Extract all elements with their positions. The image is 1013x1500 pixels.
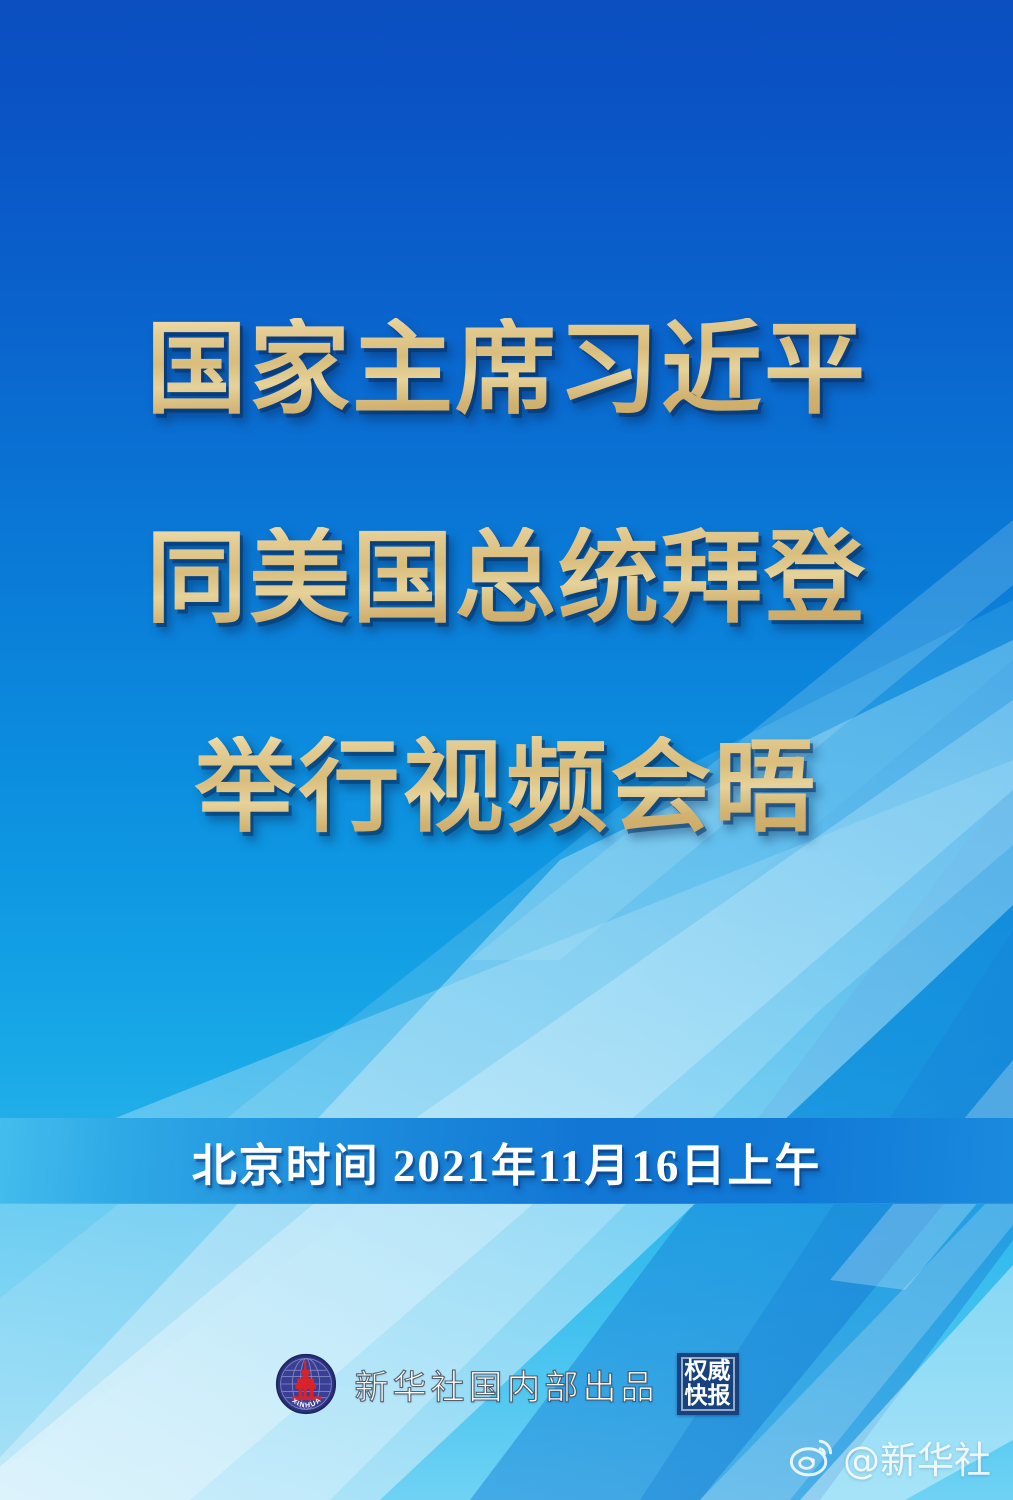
date-band: 北京时间 2021年11月16日上午: [0, 1118, 1013, 1204]
headline-block: 国家主席习近平 同美国总统拜登 举行视频会晤: [0, 318, 1013, 839]
seal-line-1: 权威: [685, 1359, 731, 1384]
seal-line-2: 快报: [685, 1384, 731, 1409]
authority-seal: 权威 快报: [677, 1353, 739, 1415]
headline-line-1: 国家主席习近平: [0, 318, 1013, 421]
weibo-handle: @新华社: [843, 1430, 991, 1484]
xinhua-logo-icon: XINHUA: [275, 1353, 337, 1415]
produced-by-label: 新华社国内部出品: [355, 1360, 659, 1409]
weibo-icon: [790, 1437, 834, 1477]
date-text: 北京时间 2021年11月16日上午: [192, 1129, 822, 1194]
headline-line-2: 同美国总统拜登: [0, 527, 1013, 630]
headline-line-3: 举行视频会晤: [0, 736, 1013, 839]
news-poster: 国家主席习近平 同美国总统拜登 举行视频会晤 北京时间 2021年11月16日上…: [0, 0, 1013, 1500]
weibo-watermark: @新华社: [790, 1430, 991, 1484]
credit-row: XINHUA 新华社国内部出品 权威 快报: [0, 1348, 1013, 1420]
